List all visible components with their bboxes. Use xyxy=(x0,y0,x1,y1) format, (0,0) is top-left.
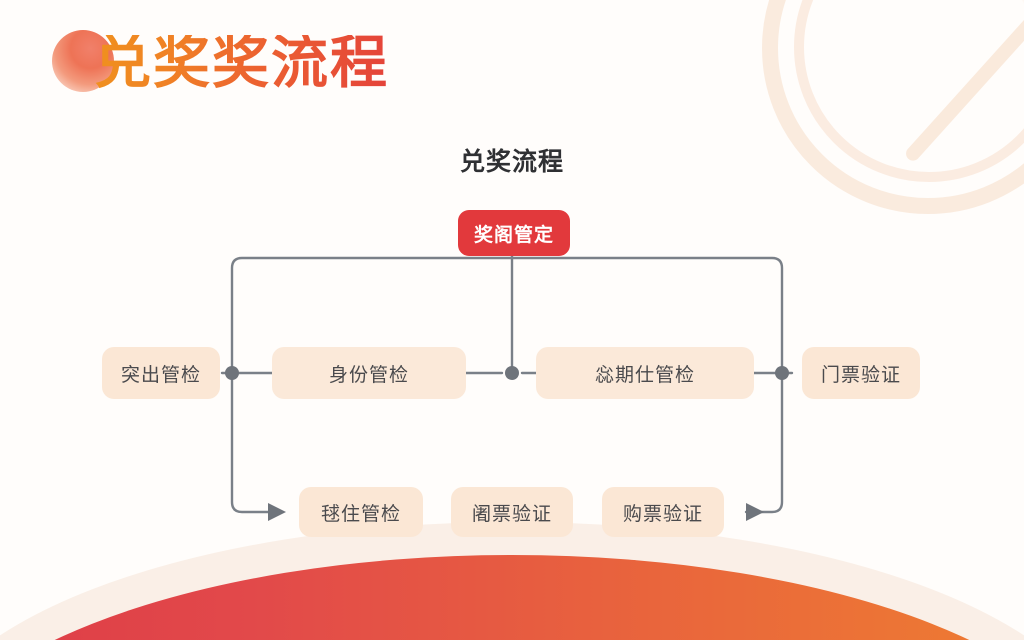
flow-node-bottom-2-label: 阇票验证 xyxy=(472,499,552,526)
flow-node-root-label: 奖阁管定 xyxy=(474,220,554,247)
connector-lines xyxy=(0,0,1024,640)
flow-diagram: 奖阁管定 突出管检 身份管检 惢期仕管检 门票验证 毬住管检 阇票验证 购票验证 xyxy=(0,0,1024,640)
flow-node-bottom-2[interactable]: 阇票验证 xyxy=(451,487,573,537)
flow-node-middle-1[interactable]: 突出管检 xyxy=(102,347,220,399)
slide-canvas: 兑奖奖流程 兑奖流程 xyxy=(0,0,1024,640)
flow-node-middle-1-label: 突出管检 xyxy=(121,360,201,387)
junction-dot-center xyxy=(505,366,519,380)
flow-node-bottom-1[interactable]: 毬住管检 xyxy=(299,487,423,537)
junction-dot-left xyxy=(225,366,239,380)
flow-node-bottom-3[interactable]: 购票验证 xyxy=(602,487,724,537)
flow-node-middle-2-label: 身份管检 xyxy=(329,360,409,387)
arrow-head-left xyxy=(268,503,286,521)
flow-node-middle-2[interactable]: 身份管检 xyxy=(272,347,466,399)
flow-node-middle-3[interactable]: 惢期仕管检 xyxy=(536,347,754,399)
flow-node-middle-3-label: 惢期仕管检 xyxy=(595,360,695,387)
flow-node-root[interactable]: 奖阁管定 xyxy=(458,210,570,256)
arrow-head-right xyxy=(746,503,764,521)
junction-dot-right xyxy=(775,366,789,380)
flow-node-bottom-3-label: 购票验证 xyxy=(623,499,703,526)
flow-node-middle-4-label: 门票验证 xyxy=(821,360,901,387)
flow-node-middle-4[interactable]: 门票验证 xyxy=(802,347,920,399)
flow-node-bottom-1-label: 毬住管检 xyxy=(321,499,401,526)
